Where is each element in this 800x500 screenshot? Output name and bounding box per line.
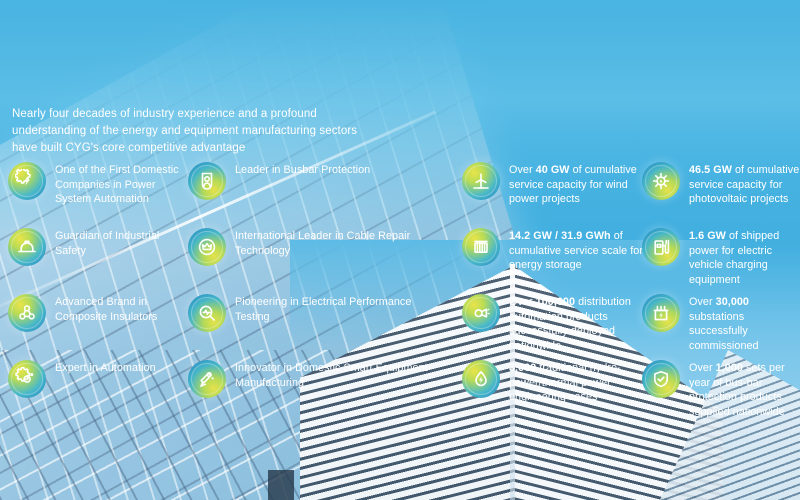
feature-item[interactable]: Expert in Automation bbox=[8, 360, 193, 412]
gear-cog-icon bbox=[8, 360, 46, 398]
metric-prefix: Over bbox=[689, 362, 716, 374]
feature-item-label: Pioneering in Electrical Performance Tes… bbox=[235, 294, 438, 324]
feature-item-label: Over 1,000 sets per year of bus-bar prot… bbox=[689, 360, 800, 419]
feature-item-label: Expert in Automation bbox=[55, 360, 156, 376]
metric-column-2: 46.5 GW of cumulative service capacity f… bbox=[642, 162, 800, 426]
feature-item[interactable]: 3,000 traditional hydro-power/thermal po… bbox=[462, 360, 647, 412]
feature-item[interactable]: Advanced Brand in Composite Insulators bbox=[8, 294, 193, 346]
poster-stage: Nearly four decades of industry experien… bbox=[0, 0, 800, 500]
content-layer: Nearly four decades of industry experien… bbox=[0, 0, 800, 500]
feature-item[interactable]: 46.5 GW of cumulative service capacity f… bbox=[642, 162, 800, 214]
feature-item[interactable]: Leader in Busbar Protection bbox=[188, 162, 438, 214]
metric-value: 46.5 GW bbox=[689, 164, 732, 176]
feature-item[interactable]: Guardian of Industrial Safety bbox=[8, 228, 193, 280]
feature-item[interactable]: International Leader in Cable Repair Tec… bbox=[188, 228, 438, 280]
hard-hat-icon bbox=[8, 228, 46, 266]
metric-value: 30,000 bbox=[716, 296, 749, 308]
metric-value: 1.6 GW bbox=[689, 230, 726, 242]
feature-item-label: 1.6 GW of shipped power for electric veh… bbox=[689, 228, 800, 287]
feature-item-label: Over 30,000 substations successfully com… bbox=[689, 294, 800, 353]
feature-item[interactable]: Over 40 GW of cumulative service capacit… bbox=[462, 162, 647, 214]
feature-item-label: Leader in Busbar Protection bbox=[235, 162, 370, 178]
feature-item[interactable]: Over 100,000 distribution automation pro… bbox=[462, 294, 647, 346]
feature-item-label: International Leader in Cable Repair Tec… bbox=[235, 228, 438, 258]
feature-item[interactable]: Over 1,000 sets per year of bus-bar prot… bbox=[642, 360, 800, 412]
metric-value: 100,000 bbox=[536, 296, 575, 308]
hydro-power-drop-icon bbox=[462, 360, 500, 398]
feature-column-2: Leader in Busbar Protection Internationa… bbox=[188, 162, 438, 426]
feature-item-label: Guardian of Industrial Safety bbox=[55, 228, 193, 258]
metric-value: 1,000 bbox=[716, 362, 743, 374]
feature-item-label: One of the First Domestic Companies in P… bbox=[55, 162, 193, 207]
metric-suffix: substations successfully commissioned bbox=[689, 311, 759, 352]
magnifier-waveform-icon bbox=[188, 294, 226, 332]
composite-insulator-icon bbox=[8, 294, 46, 332]
metric-prefix: Over bbox=[509, 296, 536, 308]
feature-item[interactable]: Over 30,000 substations successfully com… bbox=[642, 294, 800, 346]
metric-value: 14.2 GW / 31.9 GWh bbox=[509, 230, 611, 242]
metric-column-1: Over 40 GW of cumulative service capacit… bbox=[462, 162, 647, 426]
busbar-protection-icon bbox=[188, 162, 226, 200]
photovoltaic-sun-icon bbox=[642, 162, 680, 200]
distribution-automation-icon bbox=[462, 294, 500, 332]
gear-lightning-icon bbox=[8, 162, 46, 200]
feature-item-label: 46.5 GW of cumulative service capacity f… bbox=[689, 162, 800, 207]
feature-item[interactable]: 1.6 GW of shipped power for electric veh… bbox=[642, 228, 800, 280]
feature-item[interactable]: One of the First Domestic Companies in P… bbox=[8, 162, 193, 214]
intro-paragraph: Nearly four decades of industry experien… bbox=[12, 106, 372, 157]
metric-prefix: Over bbox=[509, 164, 536, 176]
ev-charging-icon bbox=[642, 228, 680, 266]
feature-item-label: Over 40 GW of cumulative service capacit… bbox=[509, 162, 647, 207]
feature-item[interactable]: Pioneering in Electrical Performance Tes… bbox=[188, 294, 438, 346]
feature-item-label: 3,000 traditional hydro-power/thermal po… bbox=[509, 360, 647, 405]
metric-value: 3,000 bbox=[509, 362, 536, 374]
substation-icon bbox=[642, 294, 680, 332]
metric-prefix: Over bbox=[689, 296, 716, 308]
shield-check-icon bbox=[642, 360, 680, 398]
crown-circle-icon bbox=[188, 228, 226, 266]
feature-item-label: Advanced Brand in Composite Insulators bbox=[55, 294, 193, 324]
wind-turbine-icon bbox=[462, 162, 500, 200]
smart-equipment-icon bbox=[188, 360, 226, 398]
feature-item[interactable]: 14.2 GW / 31.9 GWh of cumulative service… bbox=[462, 228, 647, 280]
feature-item-label: 14.2 GW / 31.9 GWh of cumulative service… bbox=[509, 228, 647, 273]
feature-item[interactable]: Innovator in Domestic Smart Equipment Ma… bbox=[188, 360, 438, 412]
energy-storage-icon bbox=[462, 228, 500, 266]
feature-item-label: Innovator in Domestic Smart Equipment Ma… bbox=[235, 360, 438, 390]
metric-value: 40 GW bbox=[536, 164, 570, 176]
feature-item-label: Over 100,000 distribution automation pro… bbox=[509, 294, 647, 353]
feature-column-1: One of the First Domestic Companies in P… bbox=[8, 162, 193, 426]
